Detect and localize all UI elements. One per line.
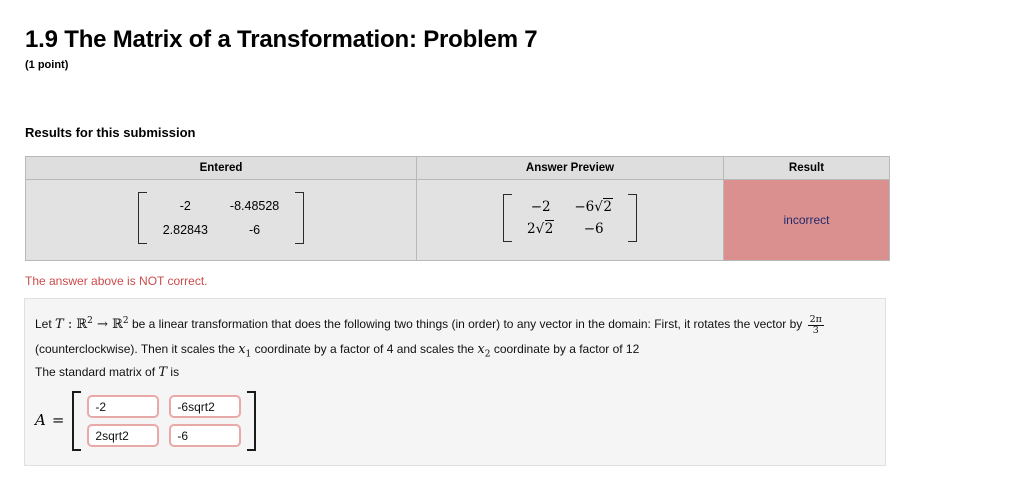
bracket-right-icon: [628, 194, 637, 242]
matrix-input-a12[interactable]: [169, 395, 241, 418]
fraction-numerator: 2π: [808, 315, 824, 325]
answer-prompt-suffix: is: [167, 365, 179, 379]
table-header-row: Entered Answer Preview Result: [26, 157, 890, 180]
bracket-right-icon: [247, 391, 256, 451]
results-heading: Results for this submission: [25, 125, 195, 141]
preview-a12-coef: −6: [574, 199, 594, 215]
problem-panel: Let T : ℝ2 → ℝ2 be a linear transformati…: [24, 298, 886, 466]
statement-part-4: coordinate by a factor of 4 and scales t…: [251, 342, 477, 356]
bracket-left-icon: [138, 192, 147, 244]
matrix-label-A: A: [35, 411, 46, 431]
entered-matrix: -2 -8.48528 2.82843 -6: [138, 192, 305, 244]
symbol-x2: x: [477, 342, 484, 357]
matrix-input-a22[interactable]: [169, 424, 241, 447]
statement-part-5: coordinate by a factor of 12: [491, 342, 640, 356]
column-header-result: Result: [724, 157, 890, 180]
preview-a12-radicand: 2: [603, 198, 613, 215]
fraction-denominator: 3: [808, 325, 824, 336]
entered-a21: 2.82843: [152, 218, 219, 242]
bracket-left-icon: [72, 391, 81, 451]
symbol-reals-codomain: ℝ: [112, 317, 123, 332]
preview-matrix: −2 −6√2 2√2 −6: [503, 194, 637, 242]
matrix-input-a21[interactable]: [87, 424, 159, 447]
rotation-fraction: 2π3: [808, 315, 824, 336]
answer-input-grid: [81, 391, 247, 451]
point-value: (1 point): [25, 58, 68, 72]
answer-prompt-symbol: T: [158, 365, 167, 380]
preview-a21: 2√2: [517, 218, 564, 240]
preview-a21-radicand: 2: [545, 220, 555, 237]
problem-page: 1.9 The Matrix of a Transformation: Prob…: [0, 0, 1024, 480]
answer-prompt-prefix: The standard matrix of: [35, 365, 158, 379]
symbol-T: T: [55, 317, 64, 332]
symbol-x1: x: [238, 342, 245, 357]
symbol-arrow: →: [93, 317, 112, 332]
matrix-input-a11[interactable]: [87, 395, 159, 418]
symbol-reals-domain: ℝ: [76, 317, 87, 332]
entered-cell: -2 -8.48528 2.82843 -6: [26, 180, 417, 261]
answer-matrix: [72, 391, 256, 451]
preview-a11: −2: [517, 196, 564, 218]
statement-part-3: (counterclockwise). Then it scales the: [35, 342, 238, 356]
entered-a12: -8.48528: [219, 194, 290, 218]
problem-statement: Let T : ℝ2 → ℝ2 be a linear transformati…: [35, 309, 873, 366]
preview-a12: −6√2: [564, 196, 623, 218]
status-badge: incorrect: [724, 180, 890, 261]
preview-a21-coef: 2: [527, 221, 536, 237]
symbol-colon: :: [64, 317, 77, 332]
entered-a11: -2: [152, 194, 219, 218]
table-row: -2 -8.48528 2.82843 -6: [26, 180, 890, 261]
statement-part-2: be a linear transformation that does the…: [129, 317, 806, 331]
column-header-answer-preview: Answer Preview: [417, 157, 724, 180]
equals-sign: =: [52, 411, 65, 431]
answer-preview-cell: −2 −6√2 2√2 −6: [417, 180, 724, 261]
statement-part-1: Let: [35, 317, 55, 331]
answer-matrix-area: A =: [35, 391, 256, 451]
bracket-right-icon: [295, 192, 304, 244]
entered-a22: -6: [219, 218, 290, 242]
bracket-left-icon: [503, 194, 512, 242]
results-table: Entered Answer Preview Result -2 -8.4852…: [25, 156, 890, 261]
feedback-message: The answer above is NOT correct.: [25, 273, 208, 289]
page-title: 1.9 The Matrix of a Transformation: Prob…: [25, 26, 537, 54]
preview-a22: −6: [564, 218, 623, 240]
answer-prompt: The standard matrix of T is: [35, 363, 179, 382]
column-header-entered: Entered: [26, 157, 417, 180]
